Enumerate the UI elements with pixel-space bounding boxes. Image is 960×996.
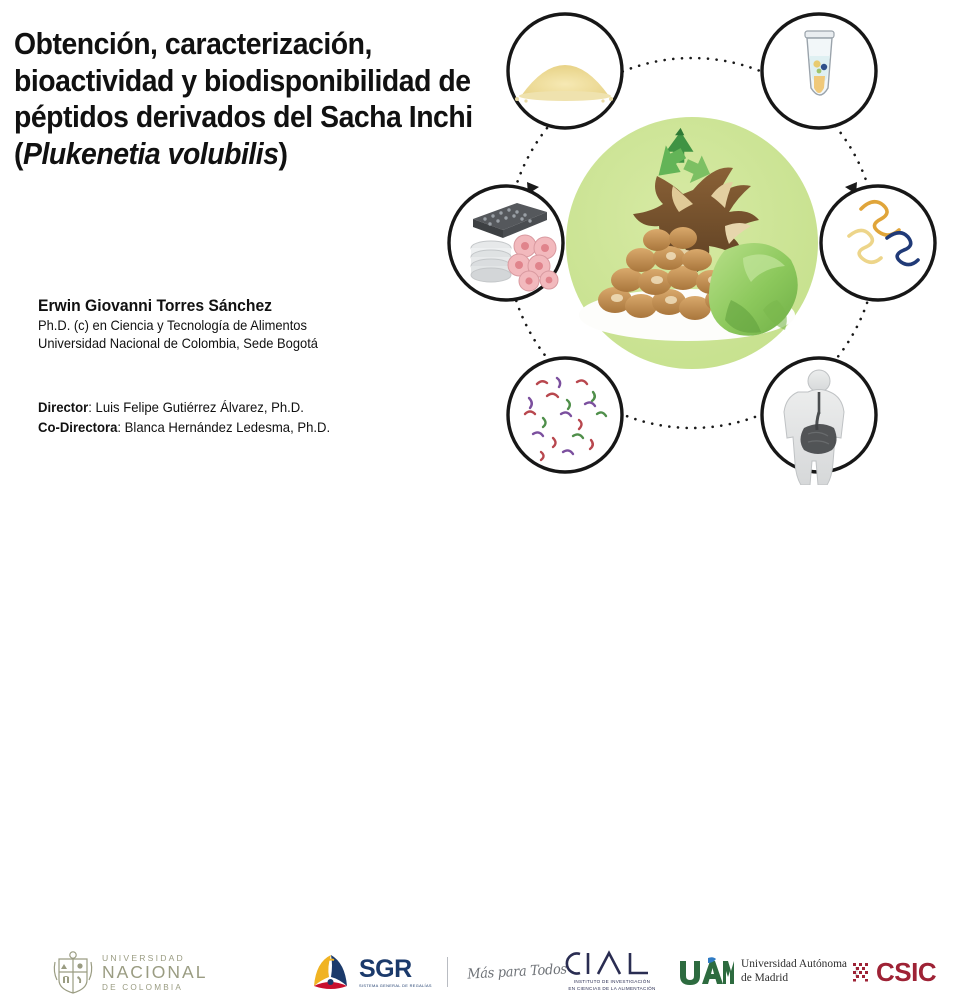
cial-subtitle: INSTITUTO DE INVESTIGACIÓN EN CIENCIAS D… <box>560 979 664 992</box>
director-line: Director: Luis Felipe Gutiérrez Álvarez,… <box>38 398 437 418</box>
petri-dish-stack <box>471 241 511 282</box>
center-node <box>566 117 818 369</box>
sacha-inchi-fruit <box>709 243 798 336</box>
csic-acronym: CSIC <box>876 959 936 985</box>
author-affiliation: Universidad Nacional de Colombia, Sede B… <box>38 335 418 353</box>
sgr-divider <box>447 957 448 987</box>
uam-name: Universidad Autónoma de Madrid <box>741 958 847 986</box>
director-label: Director <box>38 400 88 415</box>
uam-name-line-2: de Madrid <box>741 972 847 986</box>
author-program: Ph.D. (c) en Ciencia y Tecnología de Ali… <box>38 317 418 335</box>
director-name: : Luis Felipe Gutiérrez Álvarez, Ph.D. <box>88 400 304 415</box>
node-peptide-fragments <box>508 358 622 472</box>
cial-wordmark-icon <box>560 950 656 977</box>
cial-subtitle-line-1: INSTITUTO DE INVESTIGACIÓN <box>560 979 664 986</box>
species-name: Plukenetia volubilis <box>23 137 279 171</box>
node-eppendorf-tube <box>762 14 876 128</box>
codirector-name: : Blanca Hernández Ledesma, Ph.D. <box>117 420 330 435</box>
sgr-swoosh-icon <box>308 952 352 992</box>
unal-line-3: DE COLOMBIA <box>102 984 207 992</box>
title-line-2: bioactividad y biodisponibilidad de <box>14 63 484 100</box>
title-line-1: Obtención, caracterización, <box>14 26 484 63</box>
author-name: Erwin Giovanni Torres Sánchez <box>38 296 418 317</box>
sgr-tagline: Más para Todos <box>467 961 567 982</box>
sgr-acronym: SGR <box>359 957 432 982</box>
logo-uam: Universidad Autónoma de Madrid CSIC <box>678 957 858 987</box>
title-paren-open: ( <box>14 137 23 171</box>
codirector-label: Co-Directora <box>38 420 117 435</box>
codirector-line: Co-Directora: Blanca Hernández Ledesma, … <box>38 418 437 438</box>
presentation-slide: Obtención, caracterización, bioactividad… <box>0 0 960 540</box>
title-line-4: (Plukenetia volubilis) <box>14 136 484 173</box>
process-cycle-diagram <box>425 0 960 485</box>
author-block: Erwin Giovanni Torres Sánchez Ph.D. (c) … <box>38 296 438 353</box>
unal-crest-icon <box>52 950 94 996</box>
sponsor-logo-bar: UNIVERSIDAD NACIONAL DE COLOMBIA SGR SIS… <box>0 470 960 540</box>
title-line-3: péptidos derivados del Sacha Inchi <box>14 99 484 136</box>
unal-line-1: UNIVERSIDAD <box>102 954 207 963</box>
unal-line-2: NACIONAL <box>102 964 207 982</box>
logo-csic: CSIC <box>852 959 936 985</box>
cial-subtitle-line-2: EN CIENCIAS DE LA ALIMENTACIÓN <box>560 986 664 993</box>
node-peptide-chains <box>821 186 935 300</box>
uam-acronym-icon <box>678 957 734 987</box>
advisors-block: Director: Luis Felipe Gutiérrez Álvarez,… <box>38 398 458 437</box>
sgr-subtitle: SISTEMA GENERAL DE REGALÍAS <box>359 984 432 988</box>
uam-name-line-1: Universidad Autónoma <box>741 958 847 972</box>
logo-sgr: SGR SISTEMA GENERAL DE REGALÍAS Más para… <box>308 952 571 992</box>
unal-wordmark: UNIVERSIDAD NACIONAL DE COLOMBIA <box>102 954 207 992</box>
node-digestive-system <box>762 358 876 485</box>
logo-universidad-nacional: UNIVERSIDAD NACIONAL DE COLOMBIA <box>52 950 207 996</box>
node-protein-powder <box>508 14 622 128</box>
node-bioassay <box>449 186 563 300</box>
title-paren-close: ) <box>279 137 288 171</box>
csic-emblem-icon <box>852 961 872 983</box>
sgr-wordmark: SGR SISTEMA GENERAL DE REGALÍAS <box>359 957 432 988</box>
logo-cial: INSTITUTO DE INVESTIGACIÓN EN CIENCIAS D… <box>560 950 664 992</box>
